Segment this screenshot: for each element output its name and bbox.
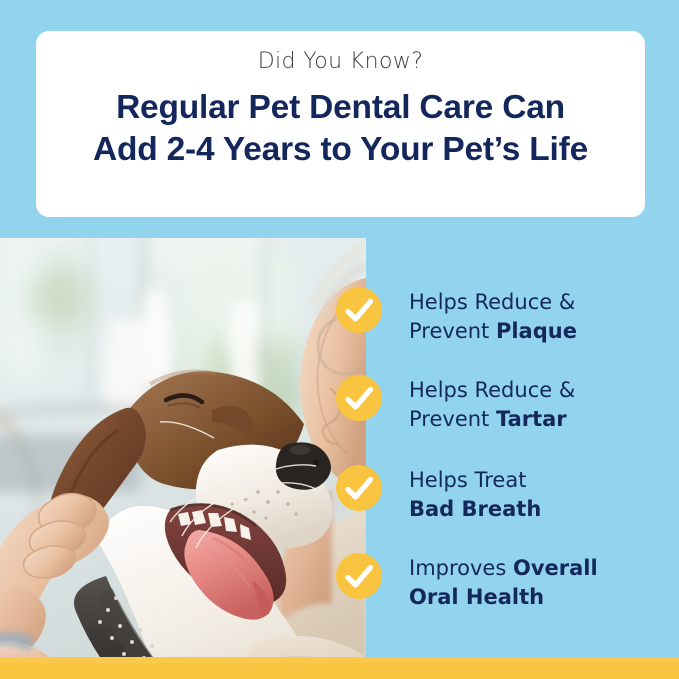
benefit-label: Improves Overall Oral Health <box>409 553 598 611</box>
dog-photo <box>0 238 366 658</box>
check-icon <box>336 553 382 599</box>
benefit-item-oral-health: Improves Overall Oral Health <box>336 553 679 625</box>
benefit-line-1: Helps Reduce & <box>409 288 577 317</box>
benefit-line-2-bold: Tartar <box>496 407 567 431</box>
bottom-accent-bar <box>0 657 679 679</box>
benefit-line-2-bold: Bad Breath <box>409 495 541 524</box>
benefit-line-2-normal: Prevent <box>409 407 496 431</box>
check-icon <box>336 375 382 421</box>
benefit-item-plaque: Helps Reduce & Prevent Plaque <box>336 287 679 359</box>
benefit-label: Helps Reduce & Prevent Tartar <box>409 375 575 433</box>
benefit-label: Helps Treat Bad Breath <box>409 465 541 523</box>
headline-card: Did You Know? Regular Pet Dental Care Ca… <box>36 31 645 217</box>
check-icon <box>336 465 382 511</box>
benefit-line-1: Helps Reduce & <box>409 376 575 405</box>
benefit-line-1-normal: Improves <box>409 556 513 580</box>
dog-photo-illustration <box>0 238 366 658</box>
benefit-line-2: Prevent Plaque <box>409 317 577 346</box>
benefit-line-2: Prevent Tartar <box>409 405 575 434</box>
benefit-line-1: Helps Treat <box>409 466 541 495</box>
benefit-line-2-bold: Plaque <box>496 319 577 343</box>
page-title: Regular Pet Dental Care Can Add 2-4 Year… <box>93 87 588 170</box>
check-icon <box>336 287 382 333</box>
benefit-item-bad-breath: Helps Treat Bad Breath <box>336 465 679 537</box>
pet-dental-infographic: Did You Know? Regular Pet Dental Care Ca… <box>0 0 679 679</box>
benefit-line-1-bold: Overall <box>513 556 598 580</box>
benefit-line-1: Improves Overall <box>409 554 598 583</box>
benefit-label: Helps Reduce & Prevent Plaque <box>409 287 577 345</box>
benefit-item-tartar: Helps Reduce & Prevent Tartar <box>336 375 679 447</box>
eyebrow-text: Did You Know? <box>258 51 424 73</box>
benefit-line-2-bold: Oral Health <box>409 583 598 612</box>
benefits-list: Helps Reduce & Prevent Plaque Helps Redu… <box>336 277 679 637</box>
benefit-line-2-normal: Prevent <box>409 319 496 343</box>
bottom-accent-bar-inner <box>0 663 679 679</box>
headline-line-2: Add 2-4 Years to Your Pet’s Life <box>93 129 588 171</box>
headline-line-1: Regular Pet Dental Care Can <box>93 87 588 129</box>
